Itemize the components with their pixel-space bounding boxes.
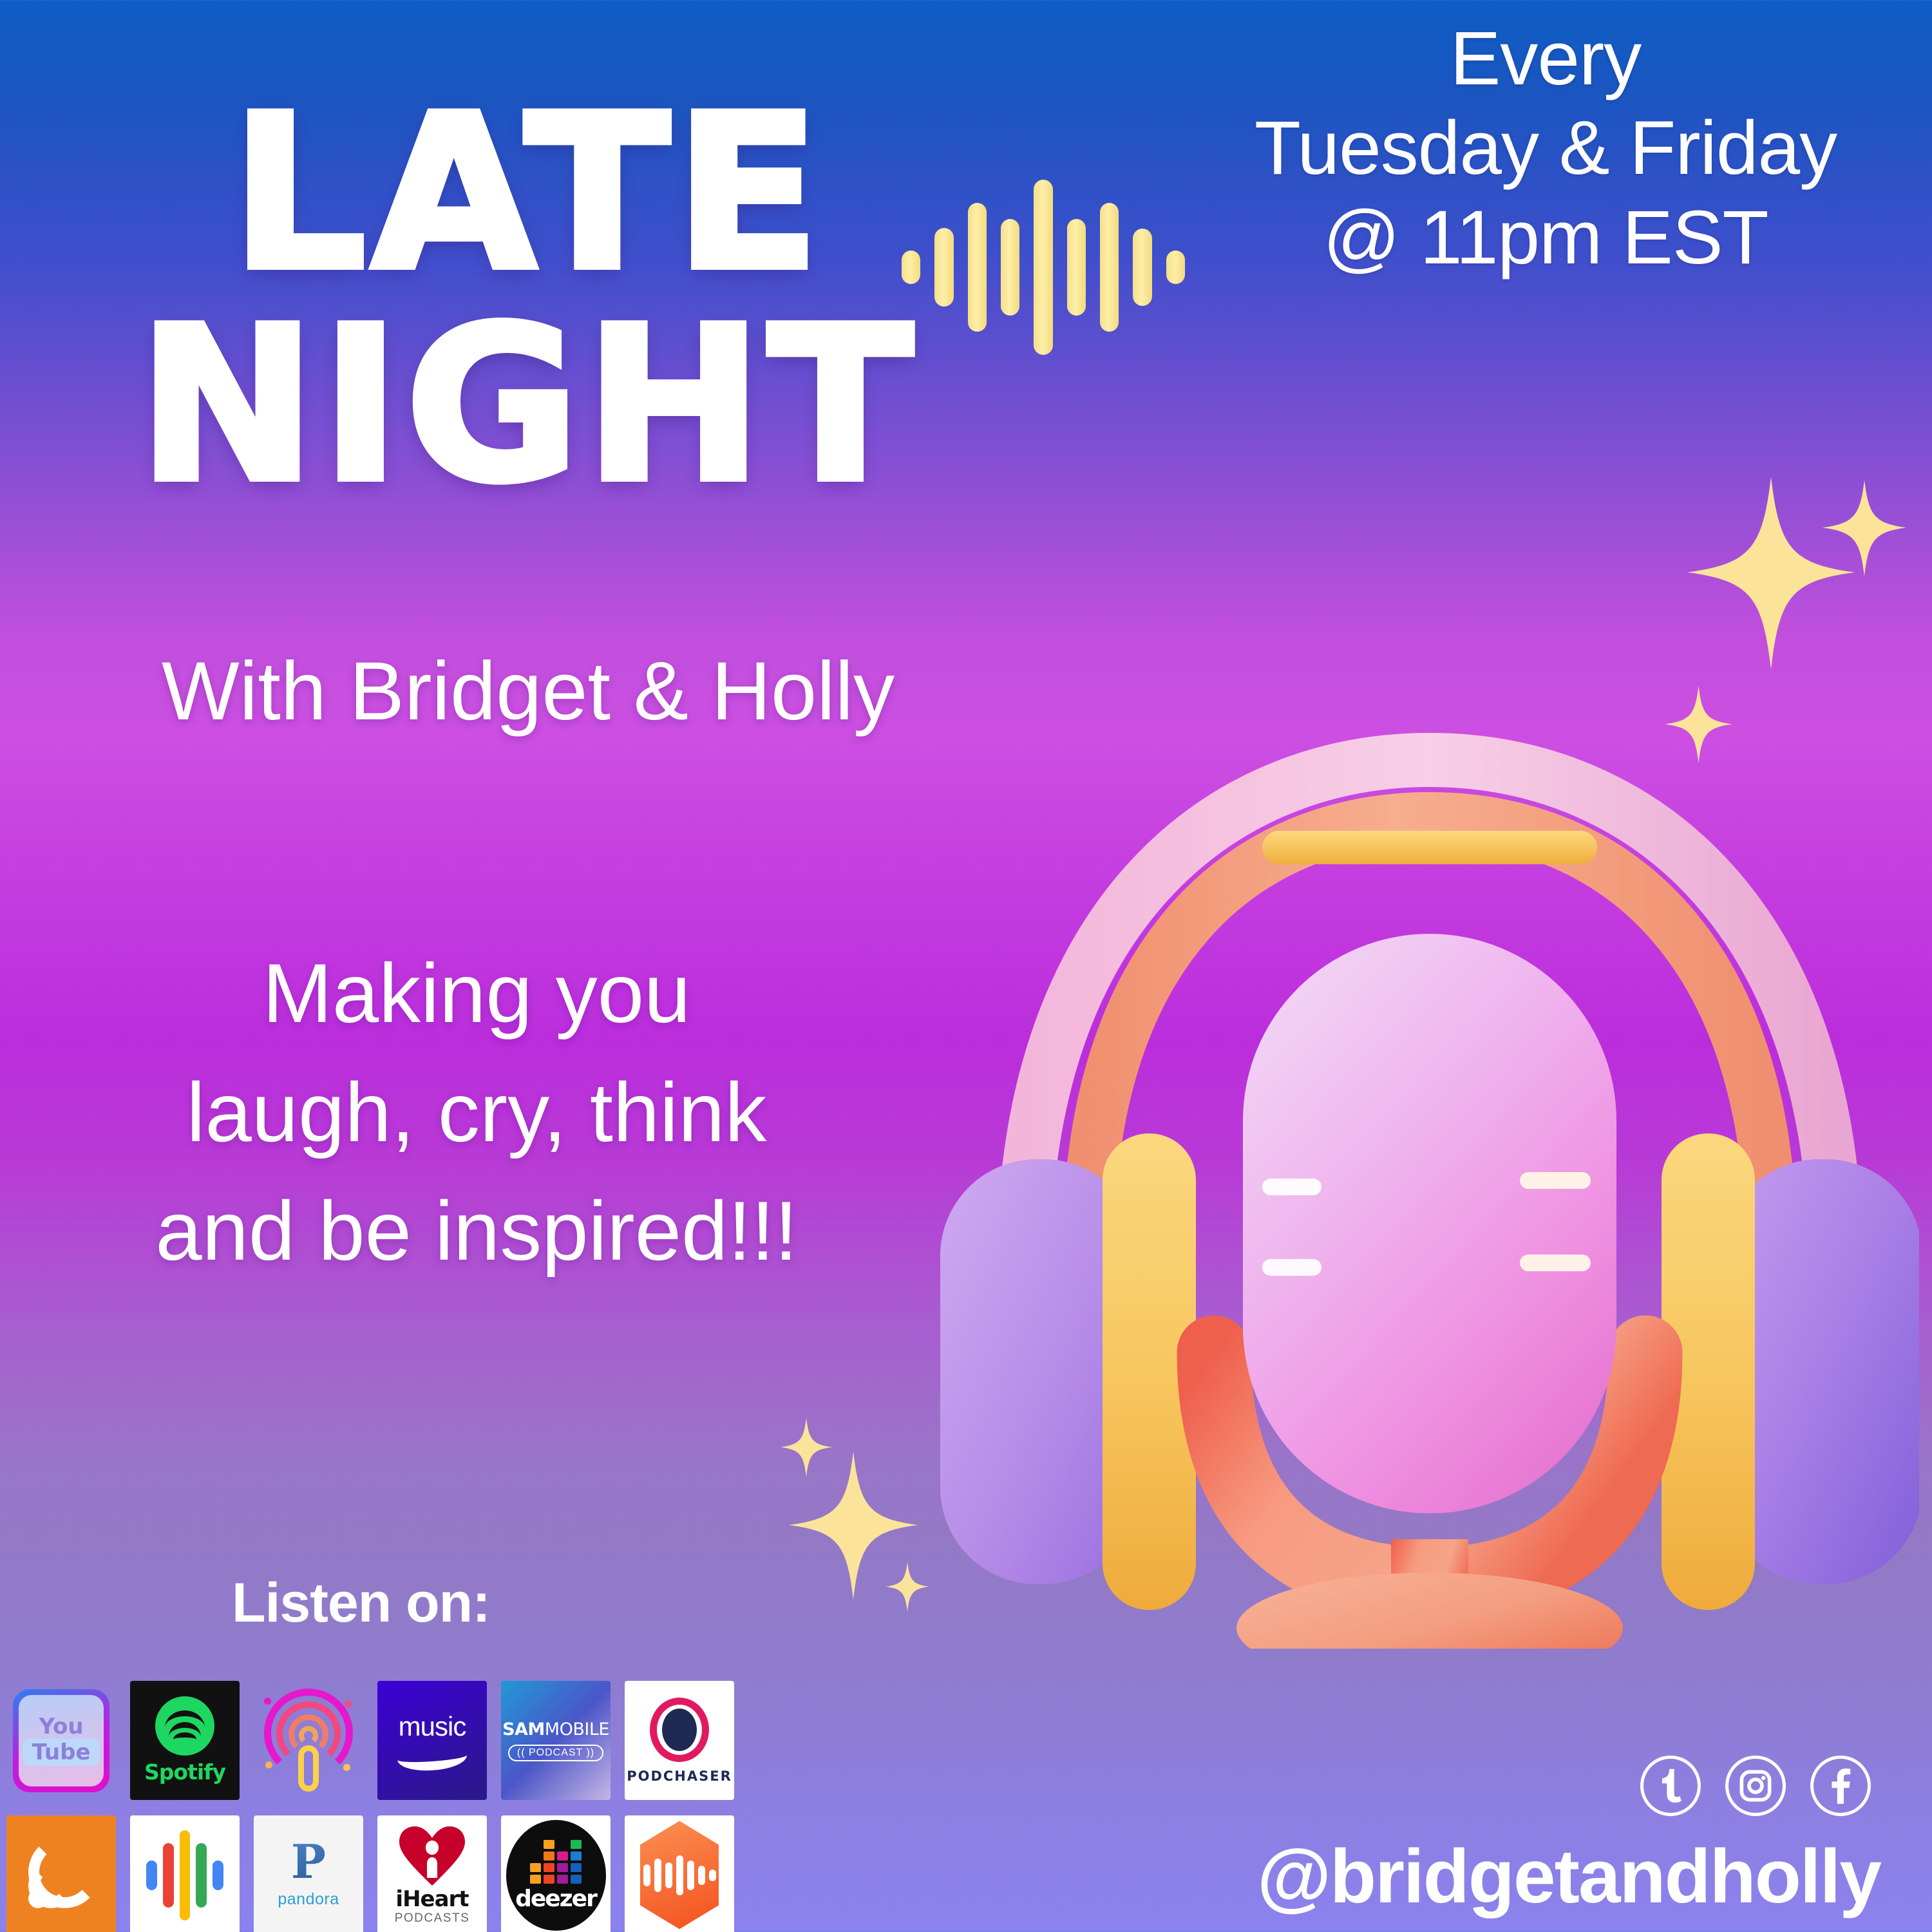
addict-wave-bar-4 xyxy=(676,1855,683,1895)
deezer-eq-cell xyxy=(544,1863,554,1872)
platform-podchaser[interactable]: PODCHASER xyxy=(625,1681,734,1800)
title-line-late: LATE xyxy=(61,103,995,284)
podchaser-icon xyxy=(650,1698,709,1762)
platform-rss[interactable] xyxy=(6,1815,116,1932)
deezer-eq-cell xyxy=(530,1863,541,1872)
podcast-addict-icon xyxy=(640,1821,719,1929)
sparkle-small-lower-right xyxy=(885,1562,929,1612)
sammobile-podcast-badge: (( PODCAST )) xyxy=(508,1745,603,1761)
instagram-icon[interactable] xyxy=(1725,1756,1786,1816)
deezer-eq-cell xyxy=(544,1875,554,1884)
listen-on-label: Listen on: xyxy=(232,1571,490,1635)
schedule-line-2: Tuesday & Friday xyxy=(1224,104,1868,193)
platform-google-podcasts[interactable] xyxy=(130,1815,240,1932)
tagline-block: Making you laugh, cry, think and be insp… xyxy=(52,934,902,1291)
deezer-eq-cell xyxy=(571,1875,582,1884)
addict-wave-bar-1 xyxy=(643,1864,650,1886)
tagline-line-2: laugh, cry, think xyxy=(52,1053,902,1172)
platform-row-2: P pandora iHeart PODCASTS deezer xyxy=(6,1815,805,1932)
google-podcasts-icon xyxy=(146,1830,223,1920)
deezer-label: deezer xyxy=(515,1888,596,1911)
microphone-headphones-illustration xyxy=(940,683,1919,1649)
tagline-line-3: and be inspired!!! xyxy=(52,1171,902,1291)
youtube-label-bottom: Tube xyxy=(23,1739,99,1766)
poster-canvas: Every Tuesday & Friday @ 11pm EST LATE N… xyxy=(0,0,1932,1932)
deezer-eq-cell xyxy=(530,1875,541,1884)
schedule-block: Every Tuesday & Friday @ 11pm EST xyxy=(1224,14,1868,283)
waveform-bar-5 xyxy=(1034,180,1052,355)
platform-logo-grid: You Tube Spotify xyxy=(6,1681,805,1932)
spotify-label: Spotify xyxy=(144,1759,225,1785)
iheart-sublabel: PODCASTS xyxy=(395,1911,470,1926)
addict-wave-bar-7 xyxy=(709,1870,716,1881)
addict-wave-bar-6 xyxy=(698,1866,705,1885)
waveform-bar-9 xyxy=(1166,251,1185,284)
addict-wave-bar-2 xyxy=(654,1859,661,1892)
sammobile-label: SAMMOBILE xyxy=(502,1719,609,1739)
title-block: LATE NIGHT xyxy=(61,103,995,495)
platform-amazon-music[interactable]: music xyxy=(377,1681,487,1800)
iheart-icon xyxy=(398,1824,466,1887)
platform-youtube[interactable]: You Tube xyxy=(6,1681,116,1800)
schedule-line-3: @ 11pm EST xyxy=(1224,193,1868,283)
rss-icon xyxy=(26,1840,97,1911)
platform-podcast-addict[interactable] xyxy=(625,1815,734,1932)
tumblr-icon[interactable] xyxy=(1640,1756,1701,1816)
title-line-night: NIGHT xyxy=(61,315,995,496)
amazon-smile-icon xyxy=(397,1742,468,1772)
platform-iheart[interactable]: iHeart PODCASTS xyxy=(377,1815,487,1932)
addict-wave-bar-3 xyxy=(665,1862,672,1888)
iheart-label: iHeart xyxy=(395,1888,468,1910)
amazon-music-label: music xyxy=(399,1711,466,1742)
schedule-line-1: Every xyxy=(1224,14,1868,104)
spotify-icon xyxy=(155,1696,214,1756)
youtube-label-top: You xyxy=(39,1716,83,1738)
tagline-line-1: Making you xyxy=(52,934,902,1053)
deezer-eq-cell xyxy=(571,1851,582,1861)
sparkle-small-upper-right xyxy=(1823,480,1906,576)
deezer-eq-cell xyxy=(557,1863,568,1872)
deezer-eq-cell xyxy=(544,1851,554,1861)
deezer-eq-cell xyxy=(557,1875,568,1884)
pandora-label: pandora xyxy=(278,1890,339,1909)
apple-podcasts-icon xyxy=(260,1686,357,1795)
deezer-eq-cell xyxy=(557,1840,568,1849)
waveform-bar-8 xyxy=(1133,229,1151,306)
deezer-eq-cell xyxy=(557,1851,568,1861)
waveform-bar-4 xyxy=(1001,219,1019,316)
platform-spotify[interactable]: Spotify xyxy=(130,1681,240,1800)
platform-deezer[interactable]: deezer xyxy=(501,1815,611,1932)
podchaser-label: PODCHASER xyxy=(627,1768,732,1784)
waveform-bar-6 xyxy=(1067,219,1086,316)
deezer-eq-cell xyxy=(530,1851,541,1861)
platform-pandora[interactable]: P pandora xyxy=(254,1815,363,1932)
deezer-eq-cell xyxy=(571,1840,582,1849)
deezer-eq-cell xyxy=(530,1840,541,1849)
deezer-icon: deezer xyxy=(506,1820,606,1931)
deezer-eq-cell xyxy=(544,1840,554,1849)
youtube-icon: You Tube xyxy=(13,1689,109,1792)
deezer-eq-cell xyxy=(571,1863,582,1872)
social-icons xyxy=(1640,1756,1871,1816)
pandora-icon: P xyxy=(291,1841,326,1883)
platform-row-1: You Tube Spotify xyxy=(6,1681,805,1800)
sparkle-small-lower-upper xyxy=(781,1417,832,1478)
waveform-bar-7 xyxy=(1100,203,1119,332)
facebook-icon[interactable] xyxy=(1810,1756,1871,1816)
addict-wave-bar-5 xyxy=(687,1861,694,1890)
platform-apple-podcasts[interactable] xyxy=(254,1681,363,1800)
platform-sammobile[interactable]: SAMMOBILE (( PODCAST )) xyxy=(501,1681,611,1800)
social-handle: @bridgetandholly xyxy=(1257,1833,1880,1920)
show-subtitle: With Bridget & Holly xyxy=(61,644,995,739)
